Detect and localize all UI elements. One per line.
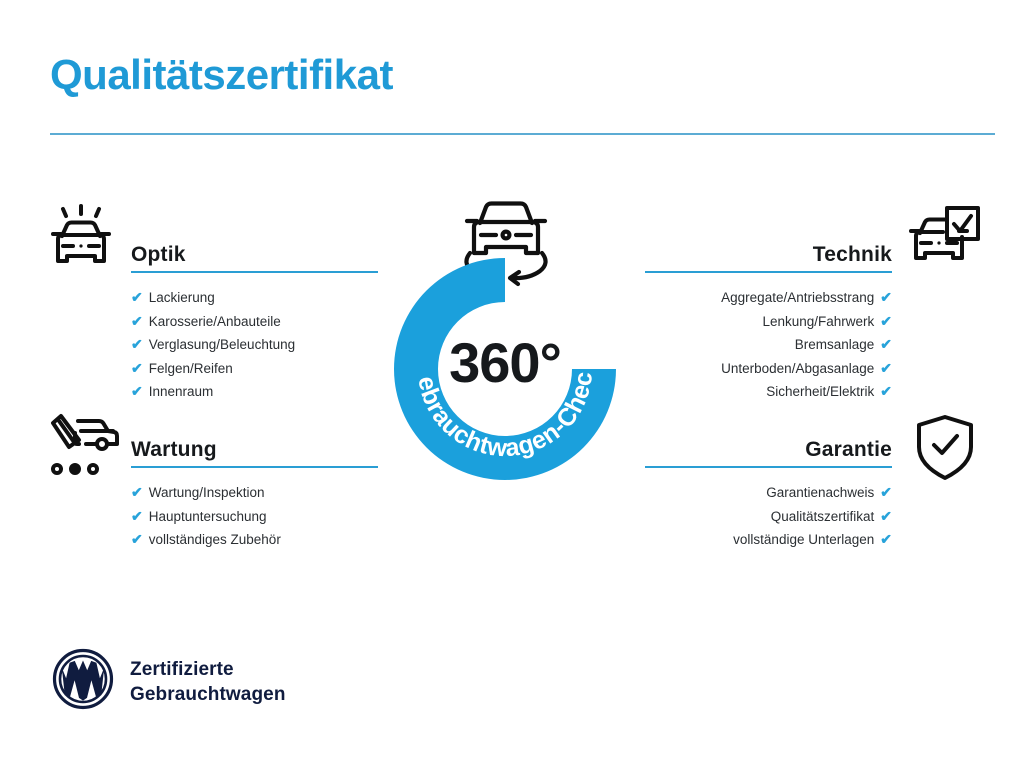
list-item-label: Unterboden/Abgasanlage	[721, 361, 874, 376]
section-divider-optik	[131, 271, 378, 273]
check-icon: ✔	[131, 531, 143, 547]
list-item: ✔Innenraum	[131, 380, 378, 404]
check-icon: ✔	[880, 508, 892, 524]
section-divider-technik	[645, 271, 892, 273]
checklist-optik: ✔Lackierung ✔Karosserie/Anbauteile ✔Verg…	[131, 286, 378, 404]
section-optik: Optik ✔Lackierung ✔Karosserie/Anbauteile…	[131, 235, 378, 404]
list-item: ✔Felgen/Reifen	[131, 357, 378, 381]
list-item: ✔Lackierung	[131, 286, 378, 310]
list-item-label: Garantienachweis	[766, 485, 874, 500]
list-item: ✔vollständiges Zubehör	[131, 528, 378, 552]
list-item-label: Sicherheit/Elektrik	[766, 384, 874, 399]
list-item-label: Innenraum	[149, 384, 214, 399]
check-icon: ✔	[131, 484, 143, 500]
list-item: Qualitätszertifikat✔	[645, 505, 892, 529]
shield-check-icon	[913, 413, 977, 488]
list-item-label: Bremsanlage	[795, 337, 875, 352]
check-icon: ✔	[880, 531, 892, 547]
qualitaetszertifikat-page: Qualitätszertifikat	[0, 0, 1024, 768]
list-item: vollständige Unterlagen✔	[645, 528, 892, 552]
check-icon: ✔	[880, 336, 892, 352]
section-header-garantie: Garantie	[645, 430, 892, 468]
list-item: ✔Karosserie/Anbauteile	[131, 310, 378, 334]
check-icon: ✔	[880, 360, 892, 376]
section-technik: Technik Aggregate/Antriebsstrang✔ Lenkun…	[645, 235, 892, 404]
section-header-technik: Technik	[645, 235, 892, 273]
checklist-wartung: ✔Wartung/Inspektion ✔Hauptuntersuchung ✔…	[131, 481, 378, 552]
list-item: Garantienachweis✔	[645, 481, 892, 505]
check-icon: ✔	[131, 313, 143, 329]
list-item-label: vollständige Unterlagen	[733, 532, 874, 547]
list-item: ✔Verglasung/Beleuchtung	[131, 333, 378, 357]
car-front-shine-icon	[45, 203, 117, 280]
check-icon: ✔	[880, 484, 892, 500]
list-item-label: Hauptuntersuchung	[149, 509, 267, 524]
list-item: Unterboden/Abgasanlage✔	[645, 357, 892, 381]
list-item-label: Karosserie/Anbauteile	[149, 314, 281, 329]
list-item: Bremsanlage✔	[645, 333, 892, 357]
list-item-label: Aggregate/Antriebsstrang	[721, 290, 874, 305]
page-title: Qualitätszertifikat	[50, 52, 393, 98]
list-item-label: Verglasung/Beleuchtung	[149, 337, 295, 352]
check-icon: ✔	[880, 313, 892, 329]
360-check-badge: Gebrauchtwagen-Check 360°	[374, 258, 636, 480]
car-front-checkbox-icon	[908, 203, 982, 278]
section-header-wartung: Wartung	[131, 430, 378, 468]
vw-text-line2: Gebrauchtwagen	[130, 682, 286, 707]
section-title-wartung: Wartung	[131, 438, 217, 462]
section-divider-wartung	[131, 466, 378, 468]
check-icon: ✔	[880, 289, 892, 305]
section-garantie: Garantie Garantienachweis✔ Qualitätszert…	[645, 430, 892, 552]
list-item: Sicherheit/Elektrik✔	[645, 380, 892, 404]
check-icon: ✔	[131, 360, 143, 376]
check-icon: ✔	[131, 383, 143, 399]
section-wartung: Wartung ✔Wartung/Inspektion ✔Hauptunters…	[131, 430, 378, 552]
section-title-optik: Optik	[131, 243, 186, 267]
list-item: ✔Wartung/Inspektion	[131, 481, 378, 505]
volkswagen-logo-icon	[52, 648, 114, 715]
badge-center-label: 360°	[374, 330, 636, 395]
header-divider	[50, 133, 995, 135]
vw-text-line1: Zertifizierte	[130, 657, 286, 682]
section-title-technik: Technik	[813, 243, 892, 267]
vw-certified-text: Zertifizierte Gebrauchtwagen	[130, 657, 286, 707]
list-item-label: vollständiges Zubehör	[149, 532, 281, 547]
check-icon: ✔	[880, 383, 892, 399]
vw-certified-logo: Zertifizierte Gebrauchtwagen	[52, 648, 286, 715]
list-item-label: Lenkung/Fahrwerk	[762, 314, 874, 329]
list-item-label: Qualitätszertifikat	[771, 509, 875, 524]
check-icon: ✔	[131, 289, 143, 305]
list-item-label: Felgen/Reifen	[149, 361, 233, 376]
check-icon: ✔	[131, 508, 143, 524]
list-item-label: Lackierung	[149, 290, 215, 305]
section-title-garantie: Garantie	[805, 438, 892, 462]
checklist-technik: Aggregate/Antriebsstrang✔ Lenkung/Fahrwe…	[645, 286, 892, 404]
section-divider-garantie	[645, 466, 892, 468]
list-item: ✔Hauptuntersuchung	[131, 505, 378, 529]
section-header-optik: Optik	[131, 235, 378, 273]
check-icon: ✔	[131, 336, 143, 352]
list-item-label: Wartung/Inspektion	[149, 485, 265, 500]
list-item: Lenkung/Fahrwerk✔	[645, 310, 892, 334]
checklist-garantie: Garantienachweis✔ Qualitätszertifikat✔ v…	[645, 481, 892, 552]
pencil-car-service-icon	[45, 413, 121, 484]
list-item: Aggregate/Antriebsstrang✔	[645, 286, 892, 310]
